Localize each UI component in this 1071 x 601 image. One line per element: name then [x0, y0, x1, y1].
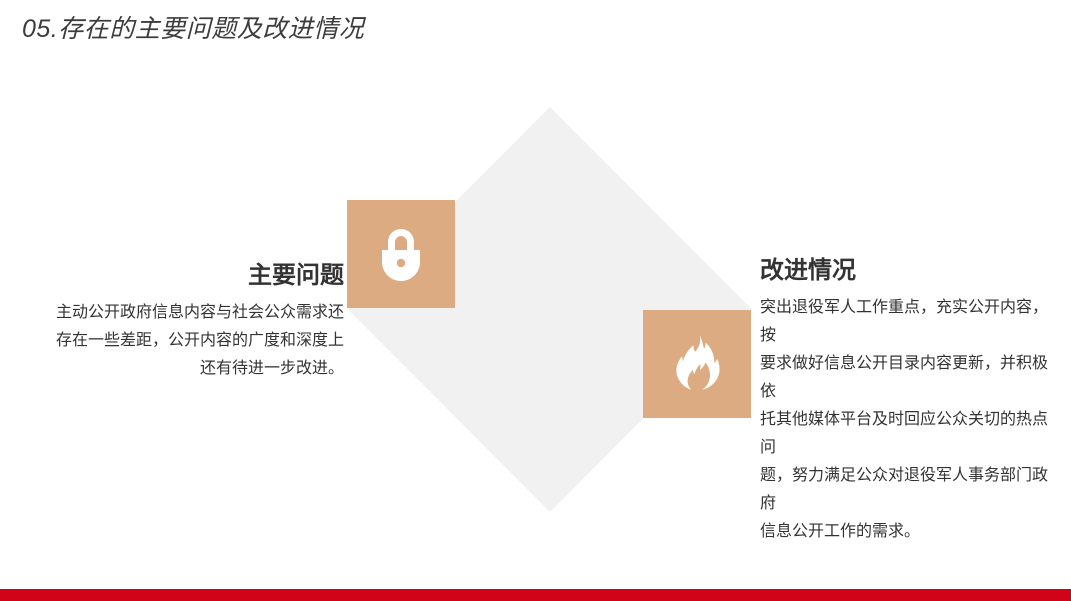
right-body-line: 题，努力满足公众对退役军人事务部门政府 [760, 462, 1050, 518]
left-icon-tile [347, 200, 455, 308]
left-body: 主动公开政府信息内容与社会公众需求还 存在一些差距，公开内容的广度和深度上 还有… [40, 299, 344, 383]
page-title: 05.存在的主要问题及改进情况 [22, 12, 364, 46]
right-body-line: 要求做好信息公开目录内容更新，并积极依 [760, 350, 1050, 406]
right-icon-tile [643, 310, 751, 418]
left-body-line: 主动公开政府信息内容与社会公众需求还 [40, 299, 344, 327]
bottom-accent-bar [0, 589, 1071, 601]
right-body: 突出退役军人工作重点，充实公开内容，按 要求做好信息公开目录内容更新，并积极依 … [760, 294, 1050, 546]
lock-icon [373, 225, 429, 283]
right-body-line: 突出退役军人工作重点，充实公开内容，按 [760, 294, 1050, 350]
right-text-block: 改进情况 突出退役军人工作重点，充实公开内容，按 要求做好信息公开目录内容更新，… [760, 256, 1050, 546]
left-text-block: 主要问题 主动公开政府信息内容与社会公众需求还 存在一些差距，公开内容的广度和深… [40, 261, 344, 383]
presentation-slide: 05.存在的主要问题及改进情况 主要问题 主动公开政府信息内容与社会公众需求还 … [0, 0, 1071, 601]
left-heading: 主要问题 [40, 261, 344, 291]
left-body-line: 存在一些差距，公开内容的广度和深度上 [40, 327, 344, 355]
flame-icon [670, 334, 724, 394]
left-body-line: 还有待进一步改进。 [40, 355, 344, 383]
right-body-line: 托其他媒体平台及时回应公众关切的热点问 [760, 406, 1050, 462]
right-heading: 改进情况 [760, 256, 1050, 286]
right-body-line: 信息公开工作的需求。 [760, 518, 1050, 546]
